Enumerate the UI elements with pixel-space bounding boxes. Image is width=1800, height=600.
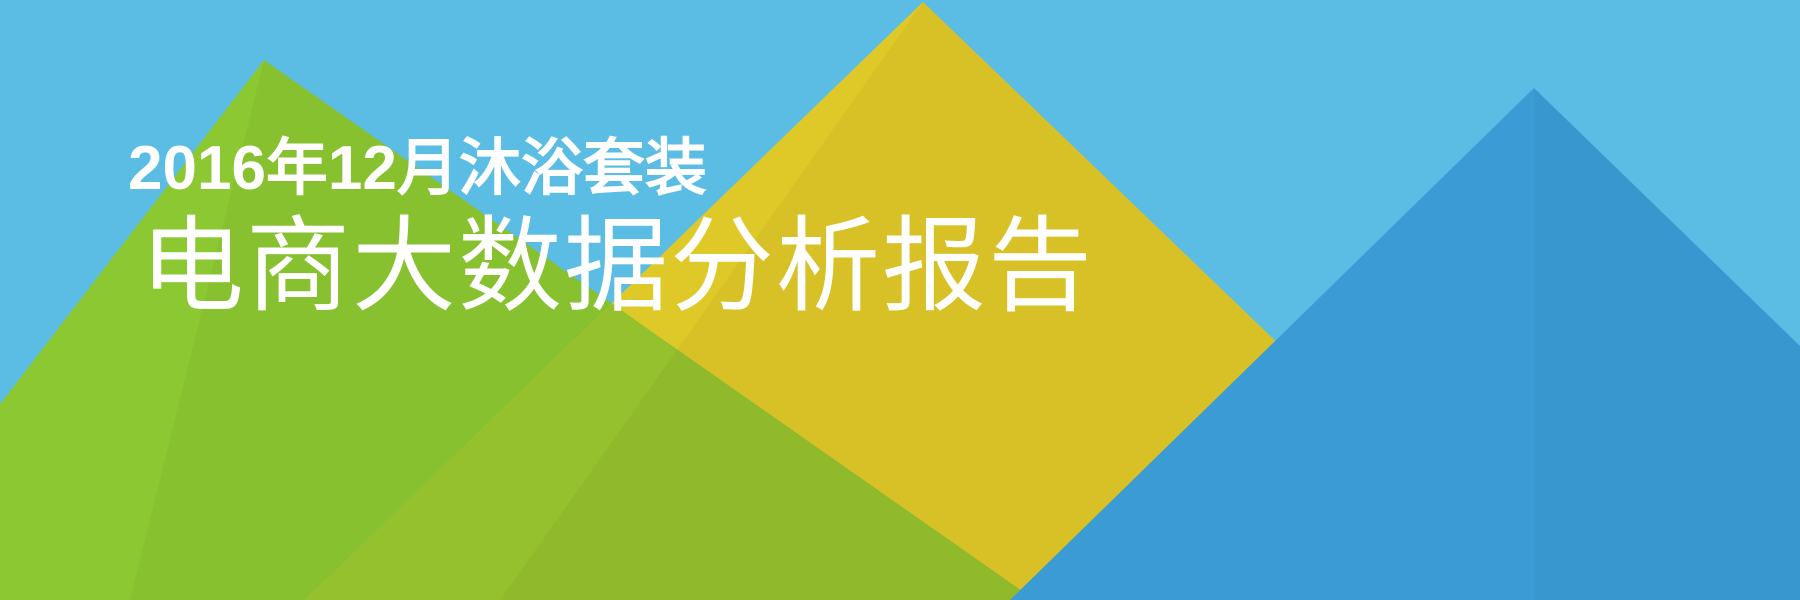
report-cover-banner: 2016年12月沐浴套装 电商大数据分析报告 bbox=[0, 0, 1800, 600]
banner-title-line-1: 2016年12月沐浴套装 bbox=[128, 132, 1094, 205]
banner-title-line-2: 电商大数据分析报告 bbox=[140, 209, 1094, 325]
banner-title-block: 2016年12月沐浴套装 电商大数据分析报告 bbox=[128, 132, 1094, 326]
